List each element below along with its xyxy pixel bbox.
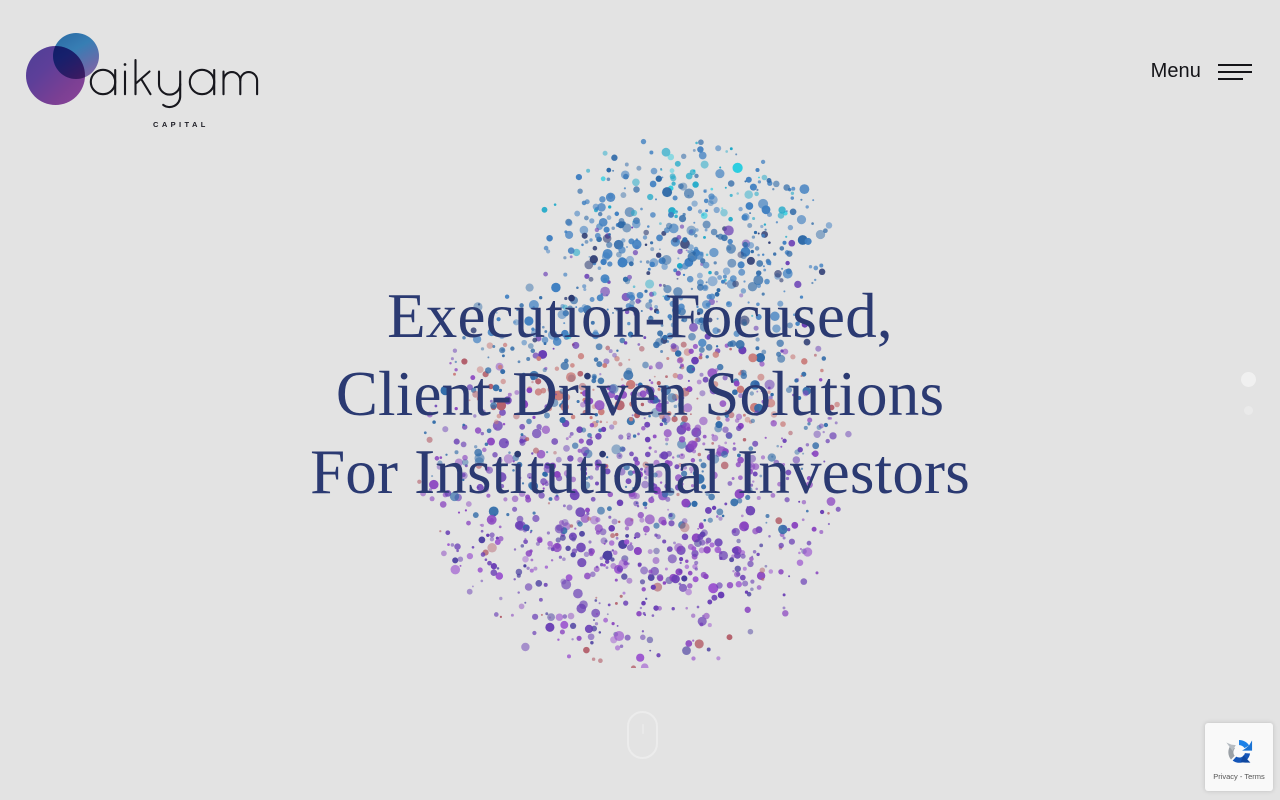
hero-copy: Execution-Focused, Client-Driven Solutio… [0, 277, 1280, 511]
mouse-scroll-icon[interactable] [627, 711, 658, 759]
menu-label: Menu [1151, 60, 1201, 83]
section-dot-2[interactable] [1244, 406, 1253, 415]
recaptcha-logo-icon [1223, 736, 1255, 768]
section-dot-nav[interactable] [1241, 372, 1256, 415]
scroll-wheel-icon [642, 724, 644, 734]
brand-wordmark [88, 51, 253, 107]
hamburger-icon [1218, 63, 1252, 81]
page-title: Execution-Focused, Client-Driven Solutio… [0, 277, 1280, 511]
brand-tagline: CAPITAL [153, 120, 209, 129]
page-root: Execution-Focused, Client-Driven Solutio… [0, 0, 1280, 800]
brand-logo-link[interactable]: CAPITAL [26, 33, 251, 105]
site-header: CAPITAL Menu [0, 0, 1280, 145]
menu-toggle-button[interactable]: Menu [1147, 54, 1256, 89]
recaptcha-privacy-terms-text: Privacy - Terms [1213, 772, 1265, 781]
recaptcha-badge[interactable]: Privacy - Terms [1205, 723, 1273, 791]
section-dot-1[interactable] [1241, 372, 1256, 387]
